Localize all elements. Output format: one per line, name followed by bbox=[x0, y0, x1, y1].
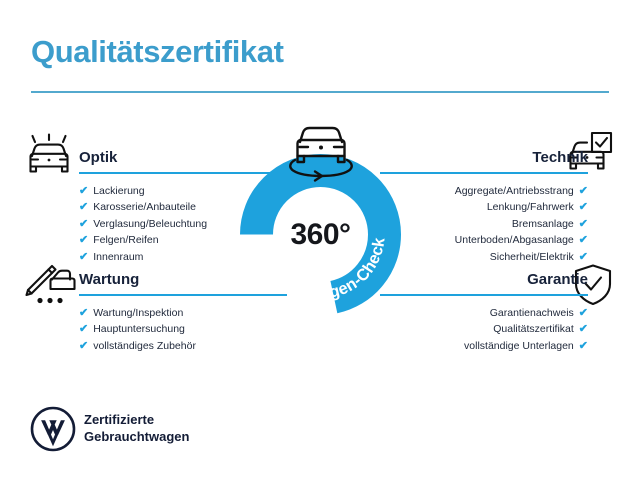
check-icon: ✔ bbox=[79, 305, 88, 322]
check-icon: ✔ bbox=[579, 305, 588, 322]
checklist-technik: Aggregate/Antriebsstrang✔ Lenkung/Fahrwe… bbox=[380, 174, 588, 266]
section-technik: Technik Aggregate/Antriebsstrang✔ Lenkun… bbox=[380, 150, 588, 265]
list-item-label: Innenraum bbox=[93, 249, 143, 266]
checklist-garantie: Garantienachweis✔ Qualitätszertifikat✔ v… bbox=[380, 296, 588, 355]
list-item-label: Lackierung bbox=[93, 183, 144, 200]
check-icon: ✔ bbox=[579, 183, 588, 200]
check-icon: ✔ bbox=[79, 216, 88, 233]
footer-brand-text: Zertifizierte Gebrauchtwagen bbox=[84, 412, 189, 445]
check-icon: ✔ bbox=[579, 232, 588, 249]
check-icon: ✔ bbox=[579, 216, 588, 233]
list-item: Lenkung/Fahrwerk✔ bbox=[380, 199, 588, 216]
list-item-label: Qualitätszertifikat bbox=[493, 321, 574, 338]
list-item-label: Verglasung/Beleuchtung bbox=[93, 216, 207, 233]
check-icon: ✔ bbox=[79, 321, 88, 338]
vw-logo-icon bbox=[30, 406, 76, 452]
list-item-label: Wartung/Inspektion bbox=[93, 305, 183, 322]
list-item: Sicherheit/Elektrik✔ bbox=[380, 249, 588, 266]
car-shine-icon bbox=[25, 133, 73, 177]
list-item-label: Sicherheit/Elektrik bbox=[490, 249, 574, 266]
footer-line-1: Zertifizierte bbox=[84, 412, 189, 429]
section-garantie: Garantie Garantienachweis✔ Qualitätszert… bbox=[380, 272, 588, 354]
check-icon: ✔ bbox=[579, 199, 588, 216]
list-item: Qualitätszertifikat✔ bbox=[380, 321, 588, 338]
check-icon: ✔ bbox=[79, 249, 88, 266]
check-icon: ✔ bbox=[79, 232, 88, 249]
page-title: Qualitätszertifikat bbox=[31, 36, 284, 69]
list-item: vollständige Unterlagen✔ bbox=[380, 338, 588, 355]
footer-line-2: Gebrauchtwagen bbox=[84, 429, 189, 446]
check-icon: ✔ bbox=[79, 338, 88, 355]
list-item: Aggregate/Antriebsstrang✔ bbox=[380, 183, 588, 200]
check-icon: ✔ bbox=[79, 199, 88, 216]
list-item-label: Karosserie/Anbauteile bbox=[93, 199, 196, 216]
list-item: ✔vollständiges Zubehör bbox=[79, 338, 287, 355]
title-divider bbox=[31, 91, 609, 93]
certificate-page: Qualitätszertifikat Optik ✔Lackierung ✔K… bbox=[0, 0, 640, 480]
list-item: Unterboden/Abgasanlage✔ bbox=[380, 232, 588, 249]
section-heading-technik: Technik bbox=[380, 150, 588, 172]
list-item: Garantienachweis✔ bbox=[380, 305, 588, 322]
list-item-label: vollständige Unterlagen bbox=[464, 338, 574, 355]
list-item-label: Lenkung/Fahrwerk bbox=[487, 199, 574, 216]
list-item-label: Felgen/Reifen bbox=[93, 232, 158, 249]
list-item: Bremsanlage✔ bbox=[380, 216, 588, 233]
section-heading-garantie: Garantie bbox=[380, 272, 588, 294]
list-item-label: Garantienachweis bbox=[490, 305, 574, 322]
list-item-label: Aggregate/Antriebsstrang bbox=[455, 183, 574, 200]
check-icon: ✔ bbox=[79, 183, 88, 200]
list-item-label: vollständiges Zubehör bbox=[93, 338, 196, 355]
service-book-pen-car-icon bbox=[25, 263, 73, 307]
check-icon: ✔ bbox=[579, 338, 588, 355]
list-item-label: Unterboden/Abgasanlage bbox=[455, 232, 574, 249]
car-front-rotate-icon bbox=[282, 122, 360, 184]
list-item-label: Hauptuntersuchung bbox=[93, 321, 185, 338]
check-icon: ✔ bbox=[579, 321, 588, 338]
list-item: ✔Hauptuntersuchung bbox=[79, 321, 287, 338]
list-item-label: Bremsanlage bbox=[512, 216, 574, 233]
